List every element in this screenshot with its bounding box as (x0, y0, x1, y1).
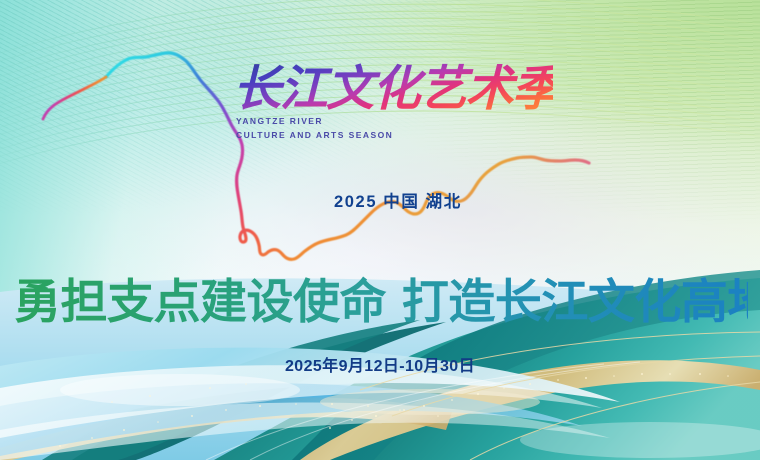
yangtze-river-outline-icon (0, 0, 760, 300)
calligraphy-title: 长江文化艺术季 (233, 50, 553, 122)
poster-banner: 长江文化艺术季 YANGTZE RIVER CULTURE AND ARTS S… (0, 0, 760, 460)
headline-slogan: 勇担支点建设使命 打造长江文化高地 (14, 269, 748, 331)
date-range-label: 2025年9月12日-10月30日 (0, 352, 760, 376)
headline-slogan-text: 勇担支点建设使命 打造长江文化高地 (14, 275, 748, 330)
calligraphy-title-svg: 长江文化艺术季 (233, 50, 553, 122)
calligraphy-title-text: 长江文化艺术季 (233, 61, 553, 117)
english-subtitle: YANGTZE RIVER CULTURE AND ARTS SEASON (236, 115, 393, 142)
location-year-label: 2025 中国 湖北 (334, 188, 462, 212)
headline-slogan-svg: 勇担支点建设使命 打造长江文化高地 (14, 269, 748, 331)
